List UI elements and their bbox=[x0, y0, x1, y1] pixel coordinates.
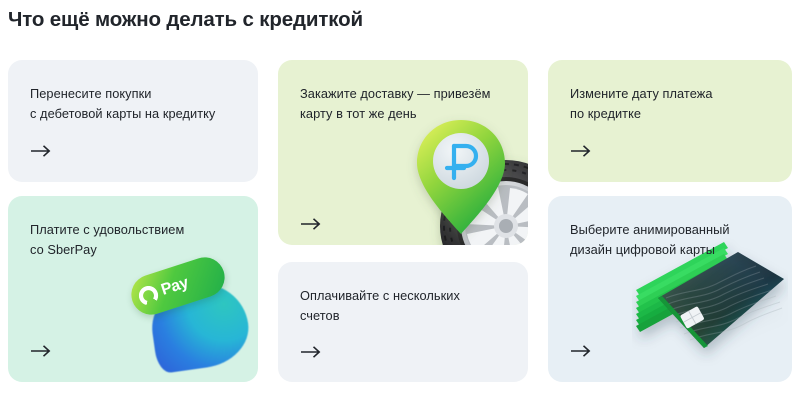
card-payment-date[interactable]: Измените дату платежа по кредитке bbox=[548, 60, 792, 182]
promo-page: Что ещё можно делать с кредиткой Перенес… bbox=[0, 0, 800, 407]
sberpay-pay-label: Pay bbox=[159, 274, 191, 300]
cards-grid: Перенесите покупки с дебетовой карты на … bbox=[8, 60, 792, 382]
card-sberpay[interactable]: Платите с удовольствием со SberPay Pay bbox=[8, 196, 258, 382]
sber-logo-icon bbox=[136, 283, 161, 308]
arrow-right-icon[interactable] bbox=[300, 345, 322, 359]
card-delivery[interactable]: Закажите доставку — привезём карту в тот… bbox=[278, 60, 528, 245]
card-payment-date-title: Измените дату платежа по кредитке bbox=[570, 84, 713, 124]
card-sberpay-title: Платите с удовольствием со SberPay bbox=[30, 220, 184, 260]
card-multi-account[interactable]: Оплачивайте с нескольких счетов bbox=[278, 262, 528, 382]
sberpay-logo-illustration: Pay bbox=[124, 258, 256, 378]
wheel-with-ruble-pin-illustration bbox=[406, 108, 528, 245]
card-transfer-title: Перенесите покупки с дебетовой карты на … bbox=[30, 84, 215, 124]
arrow-right-icon[interactable] bbox=[30, 344, 52, 358]
card-delivery-title: Закажите доставку — привезём карту в тот… bbox=[300, 84, 490, 124]
arrow-right-icon[interactable] bbox=[570, 144, 592, 158]
card-transfer[interactable]: Перенесите покупки с дебетовой карты на … bbox=[8, 60, 258, 182]
arrow-right-icon[interactable] bbox=[570, 344, 592, 358]
card-multi-account-title: Оплачивайте с нескольких счетов bbox=[300, 286, 460, 326]
card-animated-design-title: Выберите анимированный дизайн цифровой к… bbox=[570, 220, 730, 260]
page-title: Что ещё можно делать с кредиткой bbox=[8, 8, 363, 32]
arrow-right-icon[interactable] bbox=[300, 217, 322, 231]
arrow-right-icon[interactable] bbox=[30, 144, 52, 158]
card-animated-design[interactable]: Выберите анимированный дизайн цифровой к… bbox=[548, 196, 792, 382]
